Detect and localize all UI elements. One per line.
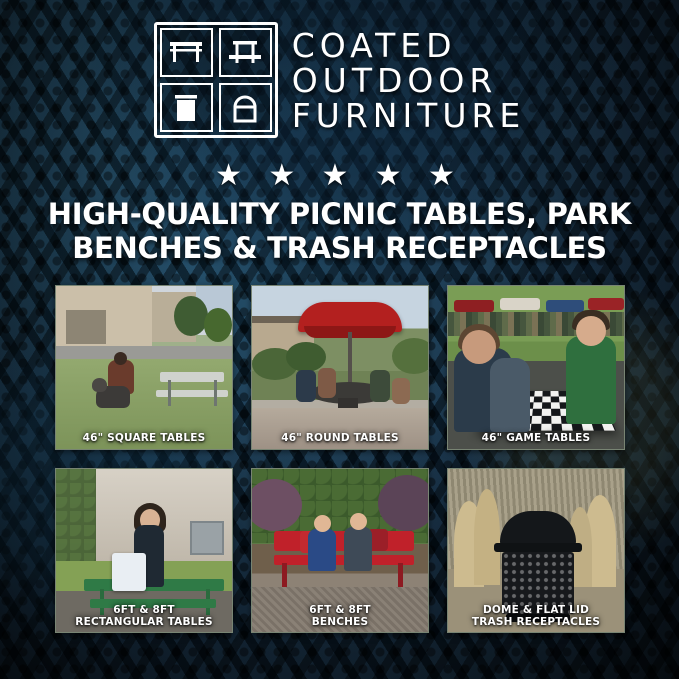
flat-lid-trash-can-icon <box>166 91 206 125</box>
product-card-game-tables[interactable]: 46" GAME TABLES <box>447 285 625 450</box>
caption-rectangular-tables: 6FT & 8FT RECTANGULAR TABLES <box>56 601 232 632</box>
headline-line-1: HIGH-QUALITY PICNIC TABLES, PARK <box>28 198 651 232</box>
product-card-rectangular-tables[interactable]: 6FT & 8FT RECTANGULAR TABLES <box>55 468 233 633</box>
park-bench-icon <box>166 37 206 69</box>
headline-line-2: BENCHES & TRASH RECEPTACLES <box>28 232 651 266</box>
brand-line-1: COATED <box>292 29 526 62</box>
headline: HIGH-QUALITY PICNIC TABLES, PARK BENCHES… <box>0 198 679 265</box>
caption-square-tables: 46" SQUARE TABLES <box>56 429 232 449</box>
product-photo-grid: 46" SQUARE TABLES 46" ROUND TAB <box>55 285 625 633</box>
caption-benches: 6FT & 8FT BENCHES <box>252 601 428 632</box>
product-poster: COATED OUTDOOR FURNITURE ★ ★ ★ ★ ★ HIGH-… <box>0 0 679 679</box>
logo-cell-picnic-table-icon <box>219 28 272 77</box>
product-card-square-tables[interactable]: 46" SQUARE TABLES <box>55 285 233 450</box>
caption-benches-line-2: BENCHES <box>254 616 426 628</box>
logo-cell-bench-icon <box>160 28 213 77</box>
caption-trash-receptacles-line-1: DOME & FLAT LID <box>450 604 622 616</box>
product-card-round-tables[interactable]: 46" ROUND TABLES <box>251 285 429 450</box>
product-card-trash-receptacles[interactable]: DOME & FLAT LID TRASH RECEPTACLES <box>447 468 625 633</box>
photo-round-tables <box>252 286 428 449</box>
product-card-benches[interactable]: 6FT & 8FT BENCHES <box>251 468 429 633</box>
brand-wordmark: COATED OUTDOOR FURNITURE <box>292 29 526 132</box>
photo-square-tables <box>56 286 232 449</box>
logo-cell-dome-lid-trash-icon <box>219 83 272 132</box>
caption-trash-receptacles-line-2: TRASH RECEPTACLES <box>450 616 622 628</box>
caption-game-tables: 46" GAME TABLES <box>448 429 624 449</box>
coated-outdoor-furniture-logo-icon <box>154 22 278 138</box>
brand-line-3: FURNITURE <box>292 99 526 132</box>
dome-lid-trash-can-icon <box>225 91 265 125</box>
logo-cell-flat-lid-trash-icon <box>160 83 213 132</box>
photo-game-tables <box>448 286 624 449</box>
caption-rectangular-tables-line-2: RECTANGULAR TABLES <box>58 616 230 628</box>
brand-line-2: OUTDOOR <box>292 64 526 97</box>
caption-trash-receptacles: DOME & FLAT LID TRASH RECEPTACLES <box>448 601 624 632</box>
brand-logo: COATED OUTDOOR FURNITURE <box>0 22 679 138</box>
caption-benches-line-1: 6FT & 8FT <box>254 604 426 616</box>
caption-rectangular-tables-line-1: 6FT & 8FT <box>58 604 230 616</box>
picnic-table-icon <box>225 37 265 69</box>
caption-round-tables: 46" ROUND TABLES <box>252 429 428 449</box>
star-rating: ★ ★ ★ ★ ★ <box>0 158 679 193</box>
